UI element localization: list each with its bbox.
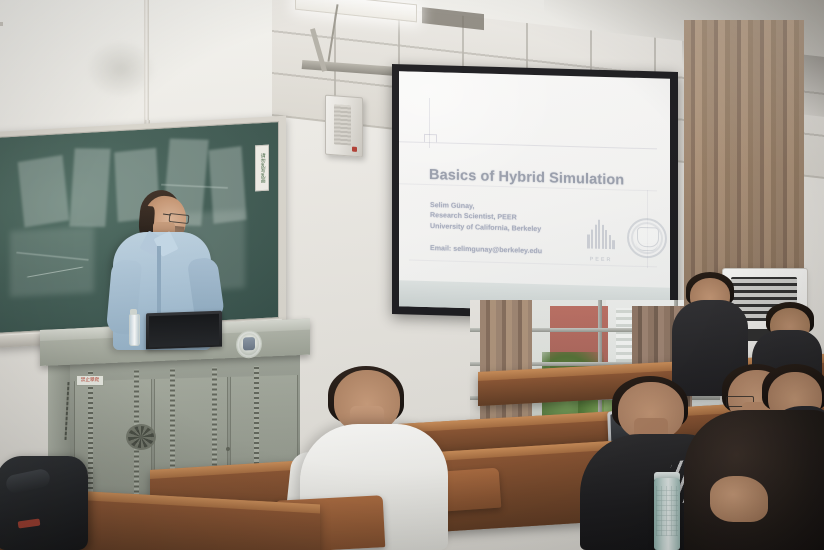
- presentation-slide: Basics of Hybrid Simulation Selim Günay,…: [399, 71, 670, 314]
- speaker-grill: [334, 104, 351, 145]
- peer-logo-icon: PEER: [581, 218, 621, 263]
- presenter-laptop[interactable]: [146, 311, 222, 350]
- projection-screen: Basics of Hybrid Simulation Selim Günay,…: [392, 64, 678, 322]
- chalk-smear: [69, 148, 111, 227]
- peer-bars: [584, 218, 618, 249]
- chalkboard-notice-sign: 请勿乱写乱画: [255, 145, 269, 192]
- peer-logo-text: PEER: [581, 256, 621, 263]
- laptop-screen: [149, 314, 219, 347]
- thermos-flask[interactable]: [654, 478, 680, 550]
- backpack-accent: [18, 519, 41, 529]
- speaker-bracket: [0, 22, 3, 26]
- water-bottle[interactable]: [129, 314, 140, 346]
- screen-surface: Basics of Hybrid Simulation Selim Günay,…: [399, 71, 670, 314]
- chalk-haze: [10, 226, 94, 297]
- seal-arc: [636, 243, 658, 252]
- foreground-hand: [710, 476, 768, 522]
- presenter-email: Email: selimgunay@berkeley.edu: [430, 244, 542, 255]
- backpack-strap: [5, 468, 52, 495]
- chalk-smear: [18, 155, 69, 228]
- lectern-fan-grille: [126, 424, 156, 450]
- slide-presenter-block: Selim Günay, Research Scientist, PEER Un…: [430, 200, 541, 234]
- uc-berkeley-seal-icon: [627, 218, 667, 259]
- lecture-hall-photo: 请勿乱写乱画 Basics of Hybrid Simulation Selim…: [0, 0, 824, 550]
- wall-speaker: [325, 95, 363, 158]
- lectern-warning-sticker: 禁止攀爬: [76, 375, 104, 386]
- wall-conduit: [144, 0, 149, 126]
- slide-decor-line: [399, 141, 657, 149]
- backpack[interactable]: [0, 456, 88, 550]
- lectern-vent: [88, 371, 93, 499]
- thermos-pattern: [656, 486, 678, 536]
- presenter-affiliation: University of California, Berkeley: [430, 221, 541, 235]
- speaker-indicator: [352, 147, 357, 152]
- university-crest-icon: [236, 330, 262, 359]
